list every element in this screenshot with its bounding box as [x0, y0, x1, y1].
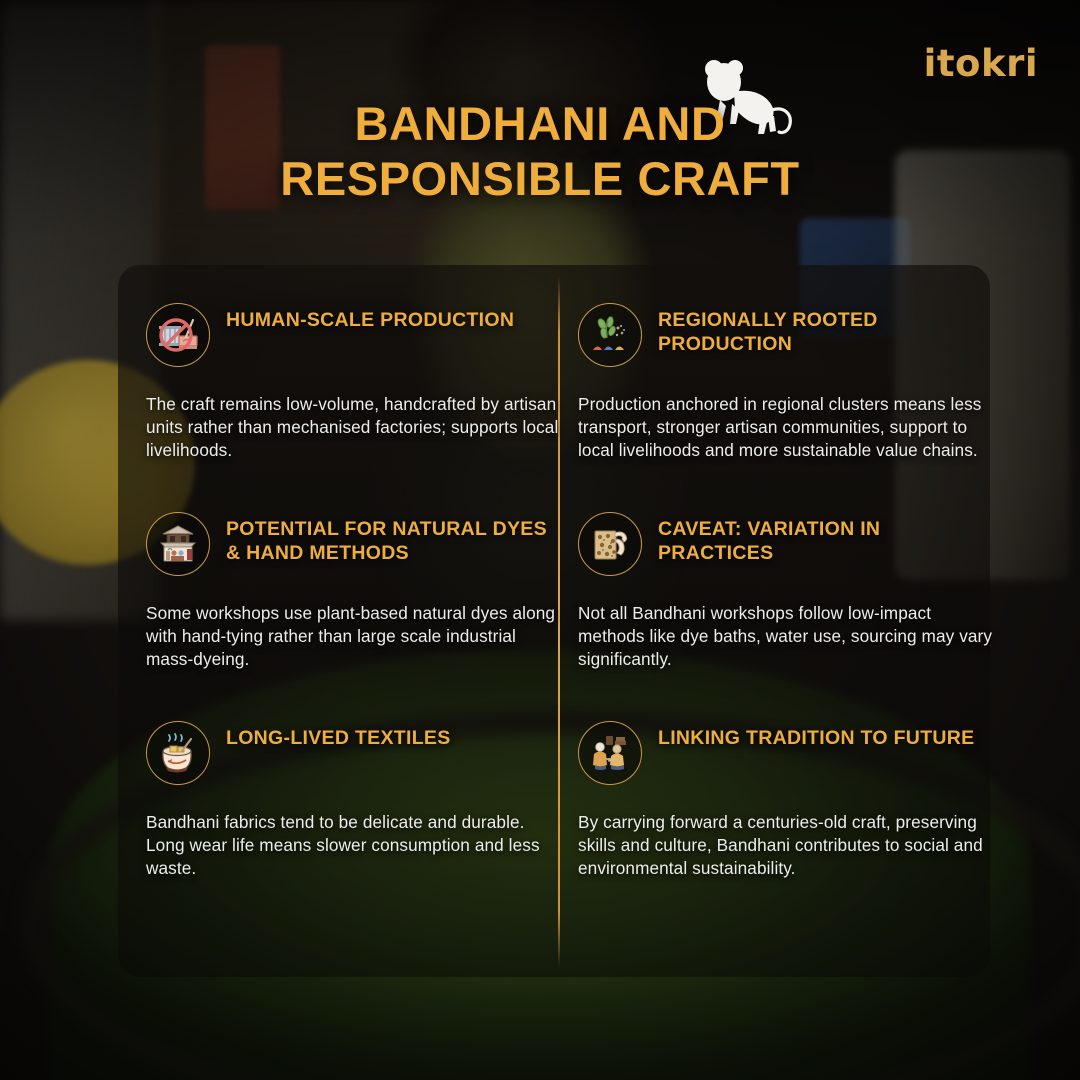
title-line-1: BANDHANI AND — [355, 97, 726, 150]
item-heading: POTENTIAL FOR NATURAL DYES & HAND METHOD… — [226, 512, 566, 566]
item-body: The craft remains low-volume, handcrafte… — [146, 393, 566, 462]
no-machine-loom-icon — [146, 303, 210, 367]
item-header: HUMAN-SCALE PRODUCTION — [146, 303, 566, 367]
item-heading: REGIONALLY ROOTED PRODUCTION — [658, 303, 998, 357]
item-header: LINKING TRADITION TO FUTURE — [578, 721, 998, 785]
infographic-poster: itokri BANDHANI AND RESPONSIBLE CRAFT — [0, 0, 1080, 1080]
item-body: Not all Bandhani workshops follow low-im… — [578, 602, 998, 671]
item-heading: LONG-LIVED TEXTILES — [226, 721, 451, 751]
item-header: CAVEAT: VARIATION IN PRACTICES — [578, 512, 998, 576]
two-artisans-working-icon — [578, 721, 642, 785]
items-grid: HUMAN-SCALE PRODUCTION The craft remains… — [118, 265, 990, 977]
artisan-workshop-building-icon — [146, 512, 210, 576]
itokri-logo[interactable]: itokri — [924, 42, 1038, 85]
content-card: HUMAN-SCALE PRODUCTION The craft remains… — [118, 265, 990, 977]
item-body: Production anchored in regional clusters… — [578, 393, 998, 462]
hand-holding-bandhani-fabric-icon — [578, 512, 642, 576]
item-heading: CAVEAT: VARIATION IN PRACTICES — [658, 512, 998, 566]
item-heading: LINKING TRADITION TO FUTURE — [658, 721, 974, 751]
item-linking-tradition-to-future: LINKING TRADITION TO FUTURE By carrying … — [578, 721, 998, 880]
dye-plants-pigments-icon — [578, 303, 642, 367]
item-header: POTENTIAL FOR NATURAL DYES & HAND METHOD… — [146, 512, 566, 576]
item-long-lived-textiles: LONG-LIVED TEXTILES Bandhani fabrics ten… — [146, 721, 566, 880]
item-caveat-variation-in-practices: CAVEAT: VARIATION IN PRACTICES Not all B… — [578, 512, 998, 671]
item-body: Bandhani fabrics tend to be delicate and… — [146, 811, 566, 880]
steaming-dye-pot-icon — [146, 721, 210, 785]
item-natural-dyes-hand-methods: POTENTIAL FOR NATURAL DYES & HAND METHOD… — [146, 512, 566, 671]
item-human-scale-production: HUMAN-SCALE PRODUCTION The craft remains… — [146, 303, 566, 462]
title-line-2: RESPONSIBLE CRAFT — [0, 151, 1080, 206]
item-body: Some workshops use plant-based natural d… — [146, 602, 566, 671]
item-header: REGIONALLY ROOTED PRODUCTION — [578, 303, 998, 367]
item-header: LONG-LIVED TEXTILES — [146, 721, 566, 785]
item-regionally-rooted-production: REGIONALLY ROOTED PRODUCTION Production … — [578, 303, 998, 462]
item-heading: HUMAN-SCALE PRODUCTION — [226, 303, 514, 333]
item-body: By carrying forward a centuries-old craf… — [578, 811, 998, 880]
page-title: BANDHANI AND RESPONSIBLE CRAFT — [0, 96, 1080, 207]
